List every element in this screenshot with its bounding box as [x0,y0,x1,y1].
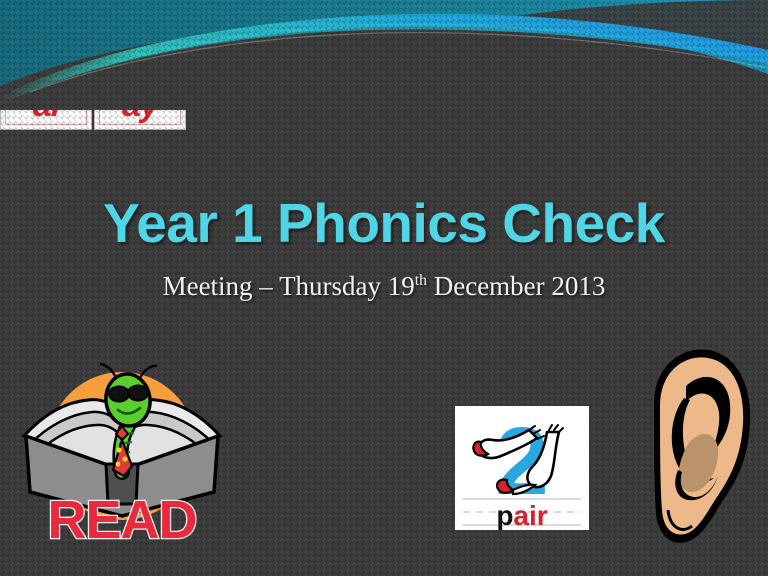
word-onset: p [496,500,513,530]
title-block: Year 1 Phonics Check Meeting – Thursday … [0,196,768,302]
ear-icon [624,342,768,556]
read-caption: READ [47,490,196,548]
word-digraph: air [513,500,547,530]
read-bookworm-clipart: READ [18,352,226,548]
subtitle-ordinal: th [415,272,427,289]
subtitle-suffix: December 2013 [427,271,605,301]
slide-subtitle: Meeting – Thursday 19th December 2013 [0,271,768,302]
teal-wave-banner [0,0,768,110]
phonics-flashcard-pair: 2 pair [455,406,589,530]
page-title: Year 1 Phonics Check [0,196,768,251]
card-word-pair: pair [496,500,547,530]
presentation-slide: Year 1 Phonics Check Meeting – Thursday … [0,0,768,576]
subtitle-prefix: Meeting – Thursday 19 [163,271,415,301]
